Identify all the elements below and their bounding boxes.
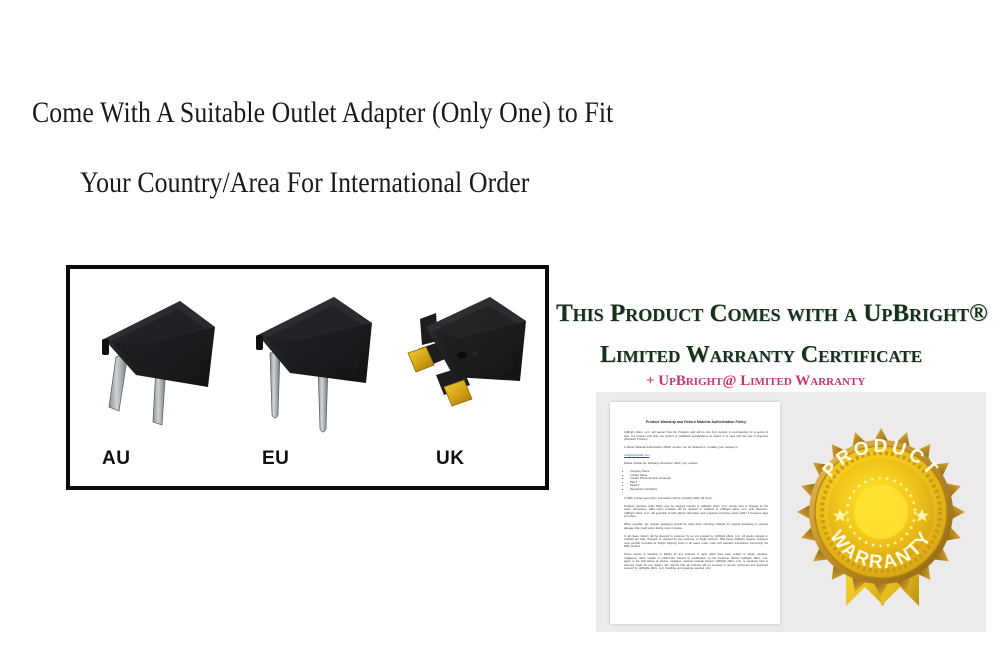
warranty-heading-line-2: Limited Warranty Certificate bbox=[600, 342, 1000, 369]
certificate-paragraph-5: Products returned under RMA must be ship… bbox=[624, 505, 768, 519]
certificate-paragraph-2: A Return Material Authorization (RMA) nu… bbox=[624, 446, 768, 450]
au-plug-icon bbox=[84, 283, 234, 433]
plug-item-au: AU bbox=[84, 269, 234, 486]
adapter-panel: AU bbox=[66, 265, 549, 490]
certificate-composite: Product Warranty and Return Material Aut… bbox=[596, 392, 986, 632]
plug-item-eu: EU bbox=[240, 269, 390, 486]
certificate-paragraph-4: A RMA number and return instructions wil… bbox=[624, 497, 768, 501]
certificate-title: Product Warranty and Return Material Aut… bbox=[624, 420, 768, 425]
plug-row: AU bbox=[70, 269, 545, 486]
certificate-paragraph-3: Please include the following information… bbox=[624, 462, 768, 466]
certificate-bullet-list: Company Name Contact Name Contact Phone … bbox=[624, 470, 768, 492]
certificate-text-body: Product Warranty and Return Material Aut… bbox=[624, 420, 768, 575]
certificate-paragraph-1: UpBright offers, LLC. will warrant that … bbox=[624, 431, 768, 442]
certificate-paragraph-8: These returns to warranty or liability f… bbox=[624, 553, 768, 571]
list-item: Description of Problem bbox=[630, 488, 768, 492]
warranty-heading-line-1: This Product Comes with a UpBright® bbox=[556, 300, 1000, 328]
certificate-paragraph-7: In all cases, factory will be deemed to … bbox=[624, 535, 768, 549]
warranty-subheading: + UpBright@ Limited Warranty bbox=[646, 373, 1000, 390]
plug-label-au: AU bbox=[84, 448, 234, 470]
warranty-certificate-page: Product Warranty and Return Material Aut… bbox=[610, 402, 780, 624]
certificate-email-link[interactable]: rma@upbrightllc.com bbox=[624, 454, 768, 458]
uk-plug-icon bbox=[392, 283, 542, 433]
product-warranty-seal-icon: PRODUCT WARRANTY bbox=[788, 416, 974, 616]
headline-line-1: Come With A Suitable Outlet Adapter (Onl… bbox=[32, 96, 606, 130]
eu-plug-icon bbox=[240, 283, 390, 433]
warranty-heading-block: This Product Comes with a UpBright® Limi… bbox=[540, 300, 1000, 390]
headline-block: Come With A Suitable Outlet Adapter (Onl… bbox=[0, 96, 700, 200]
certificate-paragraph-6: When possible, the original packaging sh… bbox=[624, 523, 768, 530]
plug-label-uk: UK bbox=[392, 448, 542, 470]
plug-label-eu: EU bbox=[240, 448, 390, 470]
headline-line-2: Your Country/Area For International Orde… bbox=[80, 166, 613, 200]
plug-item-uk: UK bbox=[392, 269, 542, 486]
